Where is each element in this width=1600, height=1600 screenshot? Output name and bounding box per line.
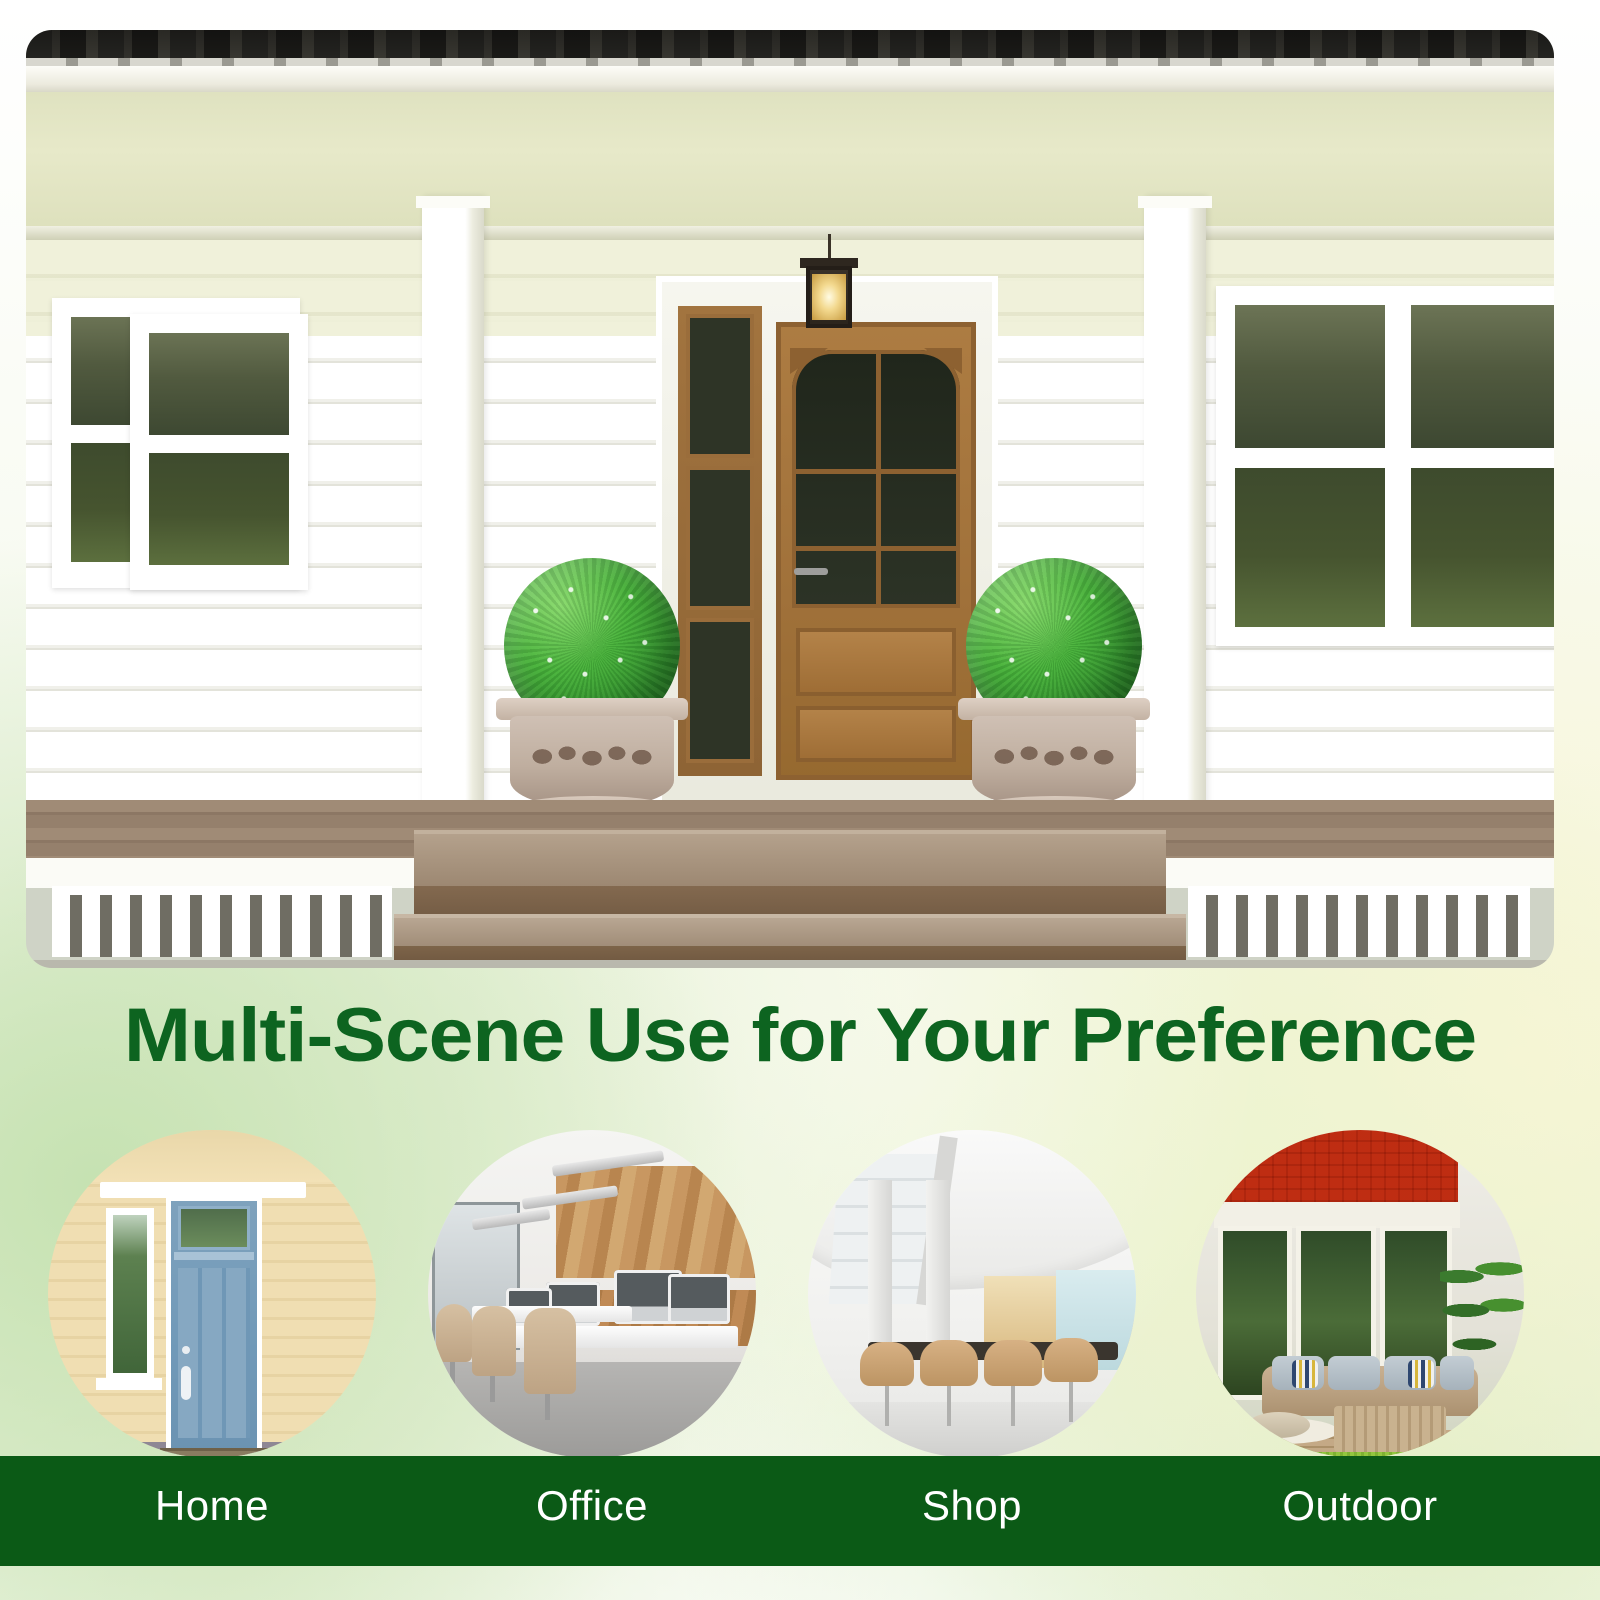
window-sash-lower [1404,461,1554,634]
glass-mullion [792,546,960,551]
home-window-sill [96,1378,162,1390]
page-title: Multi-Scene Use for Your Preference [0,992,1600,1079]
sidelight-pane [686,618,754,762]
outdoor-brick-roof [1218,1130,1458,1204]
scene-circle-outdoor [1196,1130,1524,1458]
product-infographic-page: Multi-Scene Use for Your Preference [0,0,1600,1600]
door-handle [794,568,828,575]
shop-bar-stool [1044,1338,1098,1382]
scene-label-office: Office [428,1482,756,1530]
window-sash-lower [1228,461,1392,634]
home-door-panels [178,1268,250,1438]
window-sash-upper [1404,298,1554,455]
home-blue-front-door [166,1196,262,1454]
glass-mullion [876,350,881,608]
front-door [776,322,976,780]
shop-polished-floor [808,1402,1136,1458]
right-window [1216,286,1554,646]
sidelight-window [678,306,762,776]
outdoor-coffee-table [1334,1406,1446,1452]
sidelight-pane [686,466,754,610]
shop-bar-stool [984,1340,1042,1386]
lattice-skirting-right [1188,886,1530,957]
outdoor-seat-cushion [1328,1356,1380,1390]
deck-skirt-left [26,858,414,888]
planter-scrollwork [523,740,661,773]
home-sidelight-window [106,1208,154,1380]
hero-porch-photo [26,30,1554,968]
home-door-handle [181,1366,191,1400]
porch-column-right [1144,196,1206,860]
window-sash-lower [142,446,296,572]
lattice-skirting-left [52,886,392,957]
outdoor-striped-pillow [1292,1360,1318,1388]
scene-circle-home [48,1130,376,1458]
outdoor-striped-pillow [1408,1360,1434,1388]
scene-circle-shop [808,1130,1136,1458]
door-lower-panel [796,628,956,696]
left-window-inner [130,314,308,590]
porch-ceiling-graphic [26,92,1554,240]
home-door-glass [178,1206,250,1250]
planter-scrollwork [985,740,1123,773]
shop-bar-stool [920,1340,978,1386]
scene-label-home: Home [48,1482,376,1530]
outdoor-wall-header [1214,1202,1460,1228]
pendant-lantern-light [806,266,852,328]
office-chair [436,1304,472,1362]
outdoor-seat-cushion [1440,1356,1474,1390]
porch-column-left [422,196,484,860]
home-soffit [48,1130,376,1182]
window-sash-upper [1228,298,1392,455]
office-monitor [668,1274,730,1324]
home-door-shelf [174,1252,254,1260]
office-floor [428,1362,756,1458]
deck-skirt-right [1166,858,1554,888]
shop-bar-stool [860,1342,914,1386]
glass-mullion [792,469,960,474]
roof-fascia-graphic [26,66,1554,92]
window-sash-upper [142,326,296,442]
door-lower-panel [796,706,956,762]
scene-label-outdoor: Outdoor [1196,1482,1524,1530]
scene-label-shop: Shop [808,1482,1136,1530]
office-chair [524,1308,576,1394]
office-wood-accent-wall [556,1166,756,1278]
sidelight-pane [686,314,754,458]
roof-shingles-graphic [26,30,1554,66]
outdoor-pouf [1248,1412,1310,1438]
porch-step-upper [414,830,1166,892]
planter-pot [510,716,674,808]
ground-strip [26,960,1554,968]
home-door-deadbolt [182,1346,190,1354]
office-chair [472,1306,516,1376]
planter-pot [972,716,1136,808]
scene-circle-office [428,1130,756,1458]
